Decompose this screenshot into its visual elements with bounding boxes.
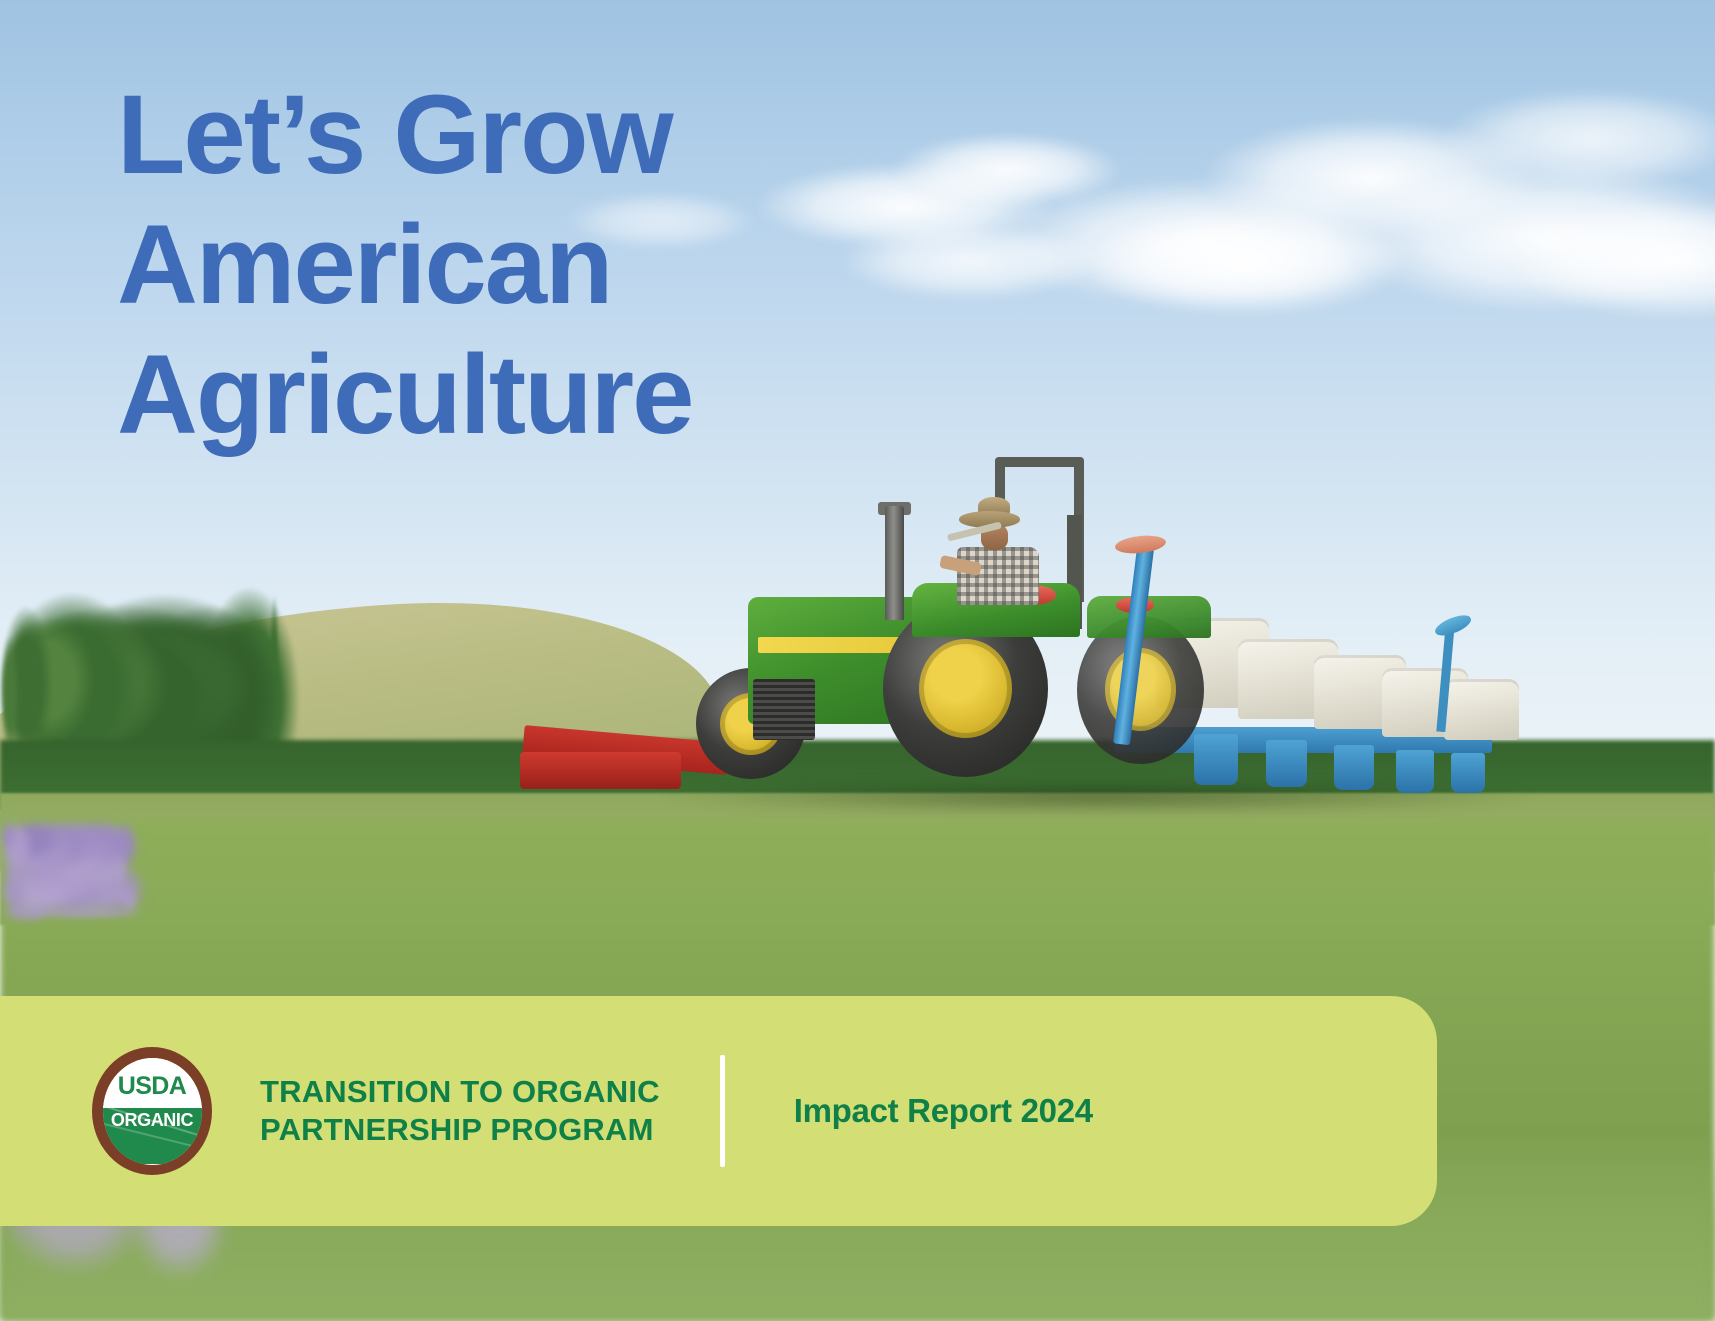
seal-inner: USDA ORGANIC (103, 1058, 202, 1165)
press-wheel (1339, 769, 1372, 799)
program-name-line-1: TRANSITION TO ORGANIC (260, 1073, 660, 1111)
page-title-line-1: Let’s Grow (117, 70, 977, 200)
seal-organic-text: ORGANIC (111, 1111, 193, 1129)
page-title-line-2: American (117, 200, 977, 330)
report-label: Impact Report 2024 (794, 1092, 1093, 1130)
seal-usda-text: USDA (118, 1074, 186, 1099)
press-wheel (1401, 771, 1432, 800)
front-implement-body (520, 752, 681, 789)
exhaust-stack (885, 506, 904, 620)
press-wheel (1201, 764, 1239, 798)
page-title: Let’s Grow American Agriculture (117, 70, 977, 460)
farmer-torso (957, 547, 1039, 605)
program-banner: USDA ORGANIC TRANSITION TO ORGANIC PARTN… (0, 996, 1437, 1226)
usda-organic-seal-icon: USDA ORGANIC (92, 1047, 212, 1175)
tractor-grille (753, 679, 815, 740)
seal-top-half: USDA (103, 1058, 202, 1108)
seed-hopper (1444, 679, 1519, 740)
program-name-line-2: PARTNERSHIP PROGRAM (260, 1111, 660, 1149)
banner-divider (720, 1055, 725, 1167)
report-cover: Let’s Grow American Agriculture USDA ORG… (0, 0, 1715, 1321)
seal-bottom-half: ORGANIC (103, 1108, 202, 1165)
planter-marker-disc (1114, 534, 1167, 556)
planter-row-unit (1451, 753, 1485, 793)
program-name: TRANSITION TO ORGANIC PARTNERSHIP PROGRA… (260, 1073, 660, 1149)
page-title-line-3: Agriculture (117, 330, 977, 460)
press-wheel (1273, 766, 1307, 798)
